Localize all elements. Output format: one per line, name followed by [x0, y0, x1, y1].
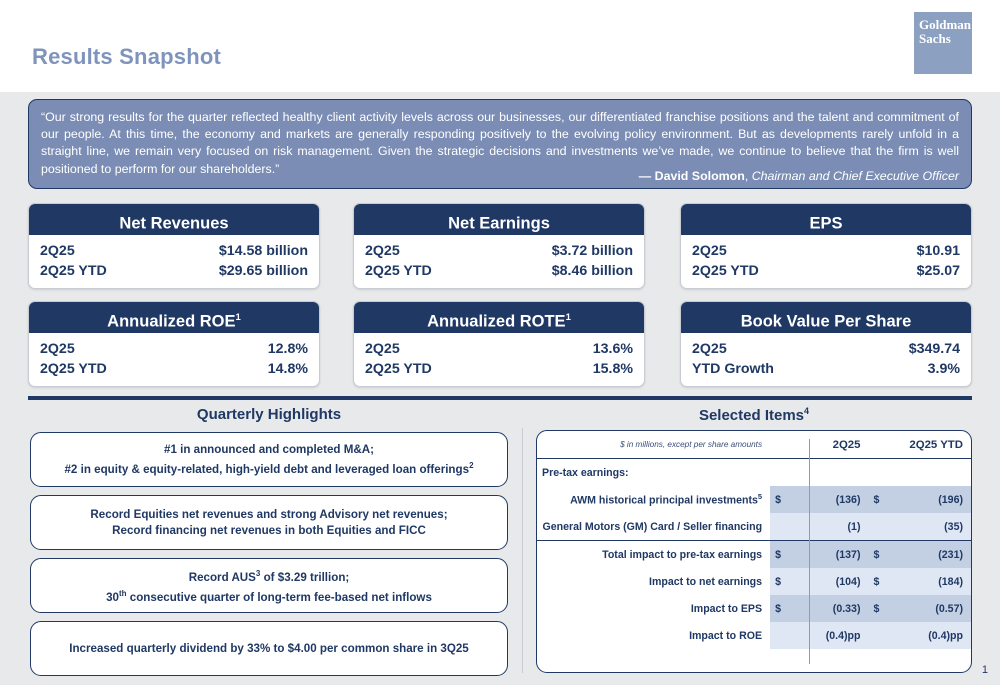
- table-header-2q25-ytd: 2Q25 YTD: [868, 431, 971, 459]
- table-row-label: AWM historical principal investments5: [537, 486, 770, 513]
- metric-row-value: $29.65 billion: [219, 261, 308, 281]
- highlight-line-2: #2 in equity & equity-related, high-yiel…: [64, 458, 473, 477]
- highlight-line-2-text-b: consecutive quarter of long-term fee-bas…: [127, 590, 432, 603]
- table-cell-currency: [770, 513, 790, 541]
- metric-card-header: EPS: [681, 204, 971, 235]
- table-cell-currency: $: [868, 541, 888, 569]
- table-cell-value: (196): [889, 486, 971, 513]
- metric-card-body: 2Q25$14.58 billion 2Q25 YTD$29.65 billio…: [29, 235, 319, 287]
- highlight-line-2-superscript: th: [119, 589, 127, 598]
- metric-card-net-earnings: Net Earnings 2Q25$3.72 billion 2Q25 YTD$…: [353, 203, 645, 289]
- section-title-superscript: 4: [804, 406, 809, 416]
- table-row: Total impact to pre-tax earnings $ (137)…: [537, 541, 971, 569]
- metric-row-value: 12.8%: [268, 339, 308, 359]
- table-row-label: Impact to net earnings: [537, 568, 770, 595]
- highlight-line-2-superscript: 2: [469, 461, 473, 470]
- metric-row-label: 2Q25 YTD: [40, 359, 107, 379]
- metric-row: 2Q2512.8%: [40, 339, 308, 359]
- table-cell-currency: $: [770, 486, 790, 513]
- metric-row-value: $8.46 billion: [552, 261, 633, 281]
- table-header-2q25: 2Q25: [770, 431, 868, 459]
- metric-card-body: 2Q2512.8% 2Q25 YTD14.8%: [29, 333, 319, 385]
- metric-row: YTD Growth3.9%: [692, 359, 960, 379]
- table-row: Impact to ROE (0.4)pp (0.4)pp: [537, 622, 971, 649]
- metric-row-label: 2Q25 YTD: [40, 261, 107, 281]
- metric-row-label: 2Q25: [692, 241, 727, 261]
- table-cell-value: (0.4)pp: [889, 622, 971, 649]
- metric-card-header: Annualized ROTE1: [354, 302, 644, 333]
- metric-row: 2Q25$10.91: [692, 241, 960, 261]
- metric-title: Annualized ROTE: [427, 313, 565, 331]
- metric-card-header: Net Earnings: [354, 204, 644, 235]
- metric-card-net-revenues: Net Revenues 2Q25$14.58 billion 2Q25 YTD…: [28, 203, 320, 289]
- metric-row-label: 2Q25: [40, 241, 75, 261]
- metric-row-label: YTD Growth: [692, 359, 774, 379]
- metric-card-header: Book Value Per Share: [681, 302, 971, 333]
- table-caption: $ in millions, except per share amounts: [537, 431, 770, 459]
- metric-card-body: 2Q25$349.74 YTD Growth3.9%: [681, 333, 971, 385]
- attribution-name: David Solomon: [655, 169, 745, 183]
- table-cell-currency: $: [770, 568, 790, 595]
- table-cell-value: (184): [889, 568, 971, 595]
- metric-title: Annualized ROE: [107, 313, 235, 331]
- metric-title-superscript: 1: [566, 312, 571, 323]
- highlight-item: Record AUS3 of $3.29 trillion; 30th cons…: [30, 558, 508, 613]
- table-section-row: Pre-tax earnings:: [537, 459, 971, 487]
- metric-row: 2Q25$349.74: [692, 339, 960, 359]
- metric-title-superscript: 1: [236, 312, 241, 323]
- table-cell-currency: $: [868, 568, 888, 595]
- table-row: AWM historical principal investments5 $ …: [537, 486, 971, 513]
- highlight-line-1: #1 in announced and completed M&A;: [64, 442, 473, 458]
- slide-root: Results Snapshot Goldman Sachs “Our stro…: [0, 0, 1000, 685]
- page-title: Results Snapshot: [32, 44, 221, 70]
- table-cell-value: (104): [790, 568, 868, 595]
- table-row: General Motors (GM) Card / Seller financ…: [537, 513, 971, 541]
- table-cell-empty: [790, 459, 868, 487]
- page-number: 1: [982, 664, 988, 676]
- column-divider: [522, 428, 523, 673]
- metric-card-book-value-per-share: Book Value Per Share 2Q25$349.74 YTD Gro…: [680, 301, 972, 387]
- section-title-selected-items: Selected Items4: [536, 406, 972, 424]
- goldman-sachs-logo: Goldman Sachs: [914, 12, 972, 74]
- table-cell-value: (136): [790, 486, 868, 513]
- metric-row-value: 14.8%: [268, 359, 308, 379]
- metric-row: 2Q25 YTD15.8%: [365, 359, 633, 379]
- table-section-label: Pre-tax earnings:: [537, 459, 770, 487]
- metric-card-body: 2Q25$10.91 2Q25 YTD$25.07: [681, 235, 971, 287]
- metric-row-value: 15.8%: [593, 359, 633, 379]
- metric-card-header: Annualized ROE1: [29, 302, 319, 333]
- table-cell-currency: [868, 513, 888, 541]
- metric-card-body: 2Q2513.6% 2Q25 YTD15.8%: [354, 333, 644, 385]
- table-row: Impact to EPS $ (0.33) $ (0.57): [537, 595, 971, 622]
- table-cell-value: (0.57): [889, 595, 971, 622]
- table-cell-value: (231): [889, 541, 971, 569]
- metric-row: 2Q25 YTD$8.46 billion: [365, 261, 633, 281]
- attribution-dash: —: [639, 169, 655, 183]
- metric-title: Net Earnings: [448, 215, 550, 233]
- metric-row-label: 2Q25: [40, 339, 75, 359]
- table-cell-currency: $: [868, 486, 888, 513]
- table-cell-currency: [868, 622, 888, 649]
- quote-attribution: — David Solomon, Chairman and Chief Exec…: [639, 169, 959, 183]
- highlight-line-1-text-a: Record AUS: [189, 571, 256, 584]
- table-row-label-superscript: 5: [758, 492, 762, 501]
- metric-row: 2Q25$3.72 billion: [365, 241, 633, 261]
- table-row-label: General Motors (GM) Card / Seller financ…: [537, 513, 770, 541]
- section-title-text: Selected Items: [699, 407, 804, 424]
- highlight-line-1-text-b: of $3.29 trillion;: [260, 571, 349, 584]
- section-title-quarterly-highlights: Quarterly Highlights: [28, 406, 510, 423]
- selected-items-card: $ in millions, except per share amounts …: [536, 430, 972, 673]
- logo-line-2: Sachs: [919, 32, 972, 46]
- metric-row-value: $25.07: [917, 261, 960, 281]
- highlight-line-1: Record AUS3 of $3.29 trillion;: [106, 566, 432, 585]
- table-cell-currency: $: [770, 541, 790, 569]
- metric-row-value: 13.6%: [593, 339, 633, 359]
- metric-title: Net Revenues: [119, 215, 228, 233]
- table-cell-value: (1): [790, 513, 868, 541]
- metric-row-value: $10.91: [917, 241, 960, 261]
- metric-card-annualized-rote: Annualized ROTE1 2Q2513.6% 2Q25 YTD15.8%: [353, 301, 645, 387]
- highlight-line-1: Increased quarterly dividend by 33% to $…: [69, 641, 469, 657]
- highlight-line-2: 30th consecutive quarter of long-term fe…: [106, 586, 432, 605]
- section-divider-bar: [28, 396, 972, 400]
- metric-row: 2Q25 YTD$25.07: [692, 261, 960, 281]
- highlight-item: #1 in announced and completed M&A; #2 in…: [30, 432, 508, 487]
- highlight-line-2-text-a: 30: [106, 590, 119, 603]
- metric-row: 2Q25$14.58 billion: [40, 241, 308, 261]
- metric-row-label: 2Q25 YTD: [365, 359, 432, 379]
- table-cell-currency: $: [770, 595, 790, 622]
- metric-card-eps: EPS 2Q25$10.91 2Q25 YTD$25.07: [680, 203, 972, 289]
- metric-row-value: $349.74: [909, 339, 960, 359]
- table-cell-value: (0.33): [790, 595, 868, 622]
- table-cell-empty: [889, 459, 971, 487]
- table-header-row: $ in millions, except per share amounts …: [537, 431, 971, 459]
- table-cell-empty: [868, 459, 888, 487]
- metric-row-label: 2Q25: [365, 241, 400, 261]
- highlight-item: Increased quarterly dividend by 33% to $…: [30, 621, 508, 676]
- table-row-label-text: AWM historical principal investments: [570, 495, 758, 507]
- table-row-label: Impact to EPS: [537, 595, 770, 622]
- metric-row: 2Q25 YTD14.8%: [40, 359, 308, 379]
- metric-title: Book Value Per Share: [741, 313, 912, 331]
- metric-row-value: 3.9%: [928, 359, 960, 379]
- table-cell-value: (35): [889, 513, 971, 541]
- attribution-role: Chairman and Chief Executive Officer: [752, 169, 959, 183]
- metric-card-annualized-roe: Annualized ROE1 2Q2512.8% 2Q25 YTD14.8%: [28, 301, 320, 387]
- highlight-line-1: Record Equities net revenues and strong …: [90, 507, 447, 523]
- metric-row: 2Q25 YTD$29.65 billion: [40, 261, 308, 281]
- table-cell-currency: [770, 622, 790, 649]
- quote-text: “Our strong results for the quarter refl…: [41, 109, 959, 178]
- table-cell-currency: $: [868, 595, 888, 622]
- metric-row-label: 2Q25 YTD: [692, 261, 759, 281]
- attribution-separator: ,: [745, 169, 752, 183]
- metric-row-value: $14.58 billion: [219, 241, 308, 261]
- table-cell-value: (0.4)pp: [790, 622, 868, 649]
- metric-card-body: 2Q25$3.72 billion 2Q25 YTD$8.46 billion: [354, 235, 644, 287]
- highlight-line-2: Record financing net revenues in both Eq…: [90, 523, 447, 539]
- logo-line-1: Goldman: [919, 18, 972, 32]
- metric-title: EPS: [809, 215, 842, 233]
- table-cell-empty: [770, 459, 790, 487]
- highlight-line-2-text: #2 in equity & equity-related, high-yiel…: [64, 462, 469, 475]
- metric-row: 2Q2513.6%: [365, 339, 633, 359]
- selected-items-table: $ in millions, except per share amounts …: [537, 431, 971, 649]
- highlight-item: Record Equities net revenues and strong …: [30, 495, 508, 550]
- table-column-divider: [809, 439, 810, 664]
- table-row: Impact to net earnings $ (104) $ (184): [537, 568, 971, 595]
- table-row-label: Total impact to pre-tax earnings: [537, 541, 770, 569]
- metric-row-label: 2Q25: [692, 339, 727, 359]
- metric-card-header: Net Revenues: [29, 204, 319, 235]
- ceo-quote-box: “Our strong results for the quarter refl…: [28, 99, 972, 189]
- metric-row-label: 2Q25: [365, 339, 400, 359]
- metric-row-value: $3.72 billion: [552, 241, 633, 261]
- table-row-label: Impact to ROE: [537, 622, 770, 649]
- metric-row-label: 2Q25 YTD: [365, 261, 432, 281]
- table-cell-value: (137): [790, 541, 868, 569]
